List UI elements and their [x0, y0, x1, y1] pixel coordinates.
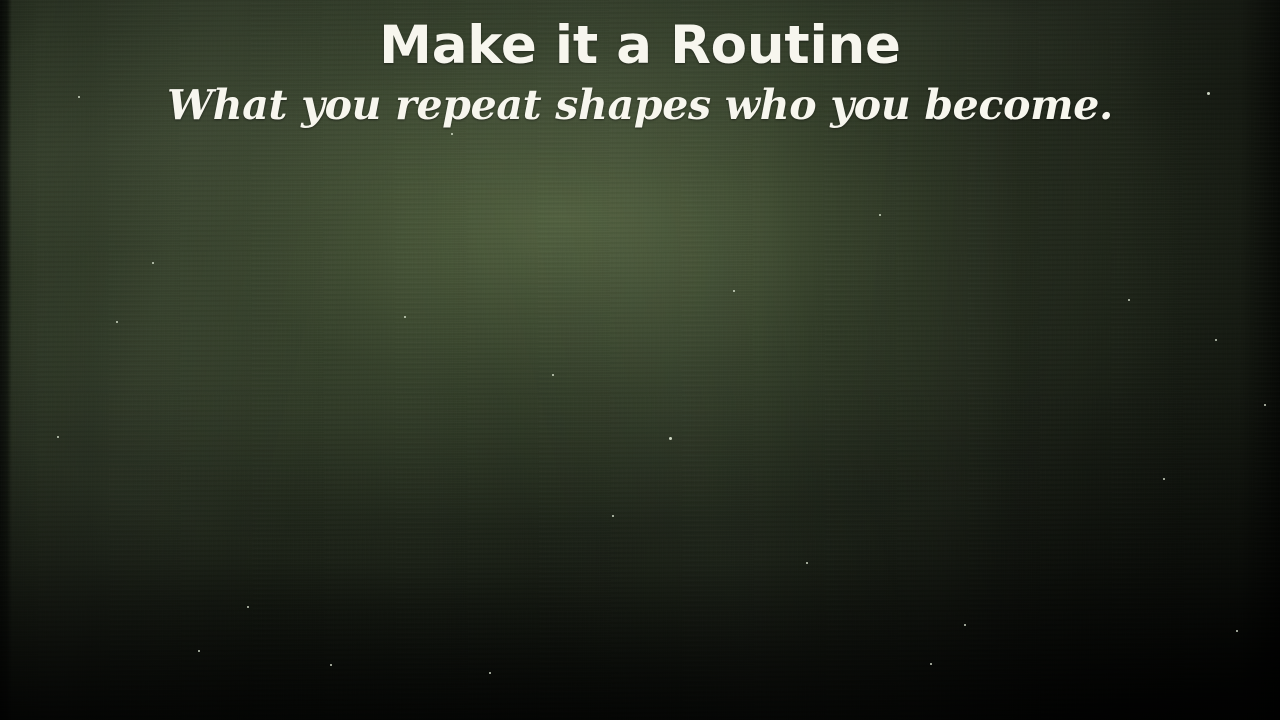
- slide-text-block: Make it a Routine What you repeat shapes…: [0, 0, 1280, 130]
- presentation-slide: Make it a Routine What you repeat shapes…: [0, 0, 1280, 720]
- slide-subtitle: What you repeat shapes who you become.: [0, 80, 1280, 130]
- slide-title: Make it a Routine: [0, 14, 1280, 78]
